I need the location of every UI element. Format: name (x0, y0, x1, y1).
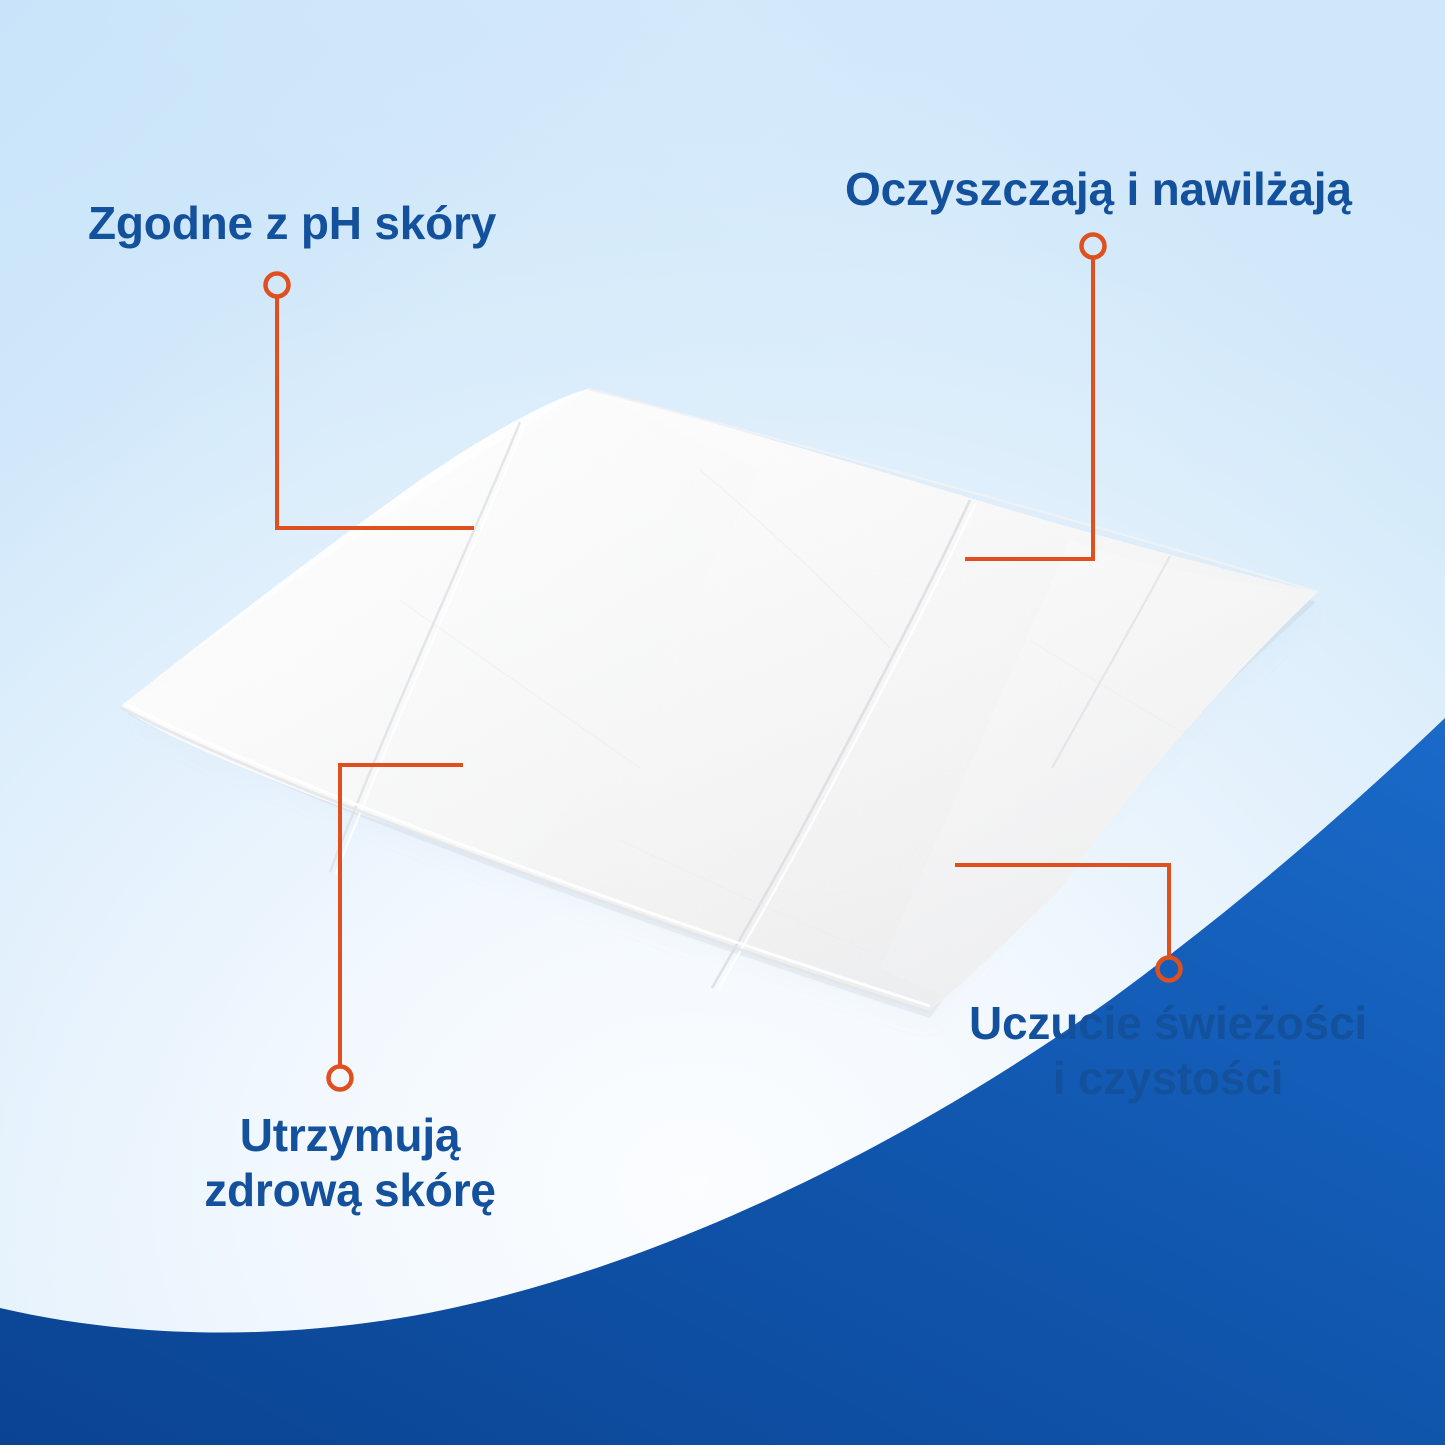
callout-label-clean: Oczyszczają i nawilżają (845, 162, 1352, 217)
callout-label-healthy: Utrzymują zdrową skórę (168, 1108, 532, 1218)
callout-label-ph: Zgodne z pH skóry (88, 196, 496, 251)
infographic-canvas: Zgodne z pH skóry Oczyszczają i nawilżaj… (0, 0, 1445, 1445)
callout-label-fresh: Uczucie świeżości i czystości (958, 996, 1378, 1106)
